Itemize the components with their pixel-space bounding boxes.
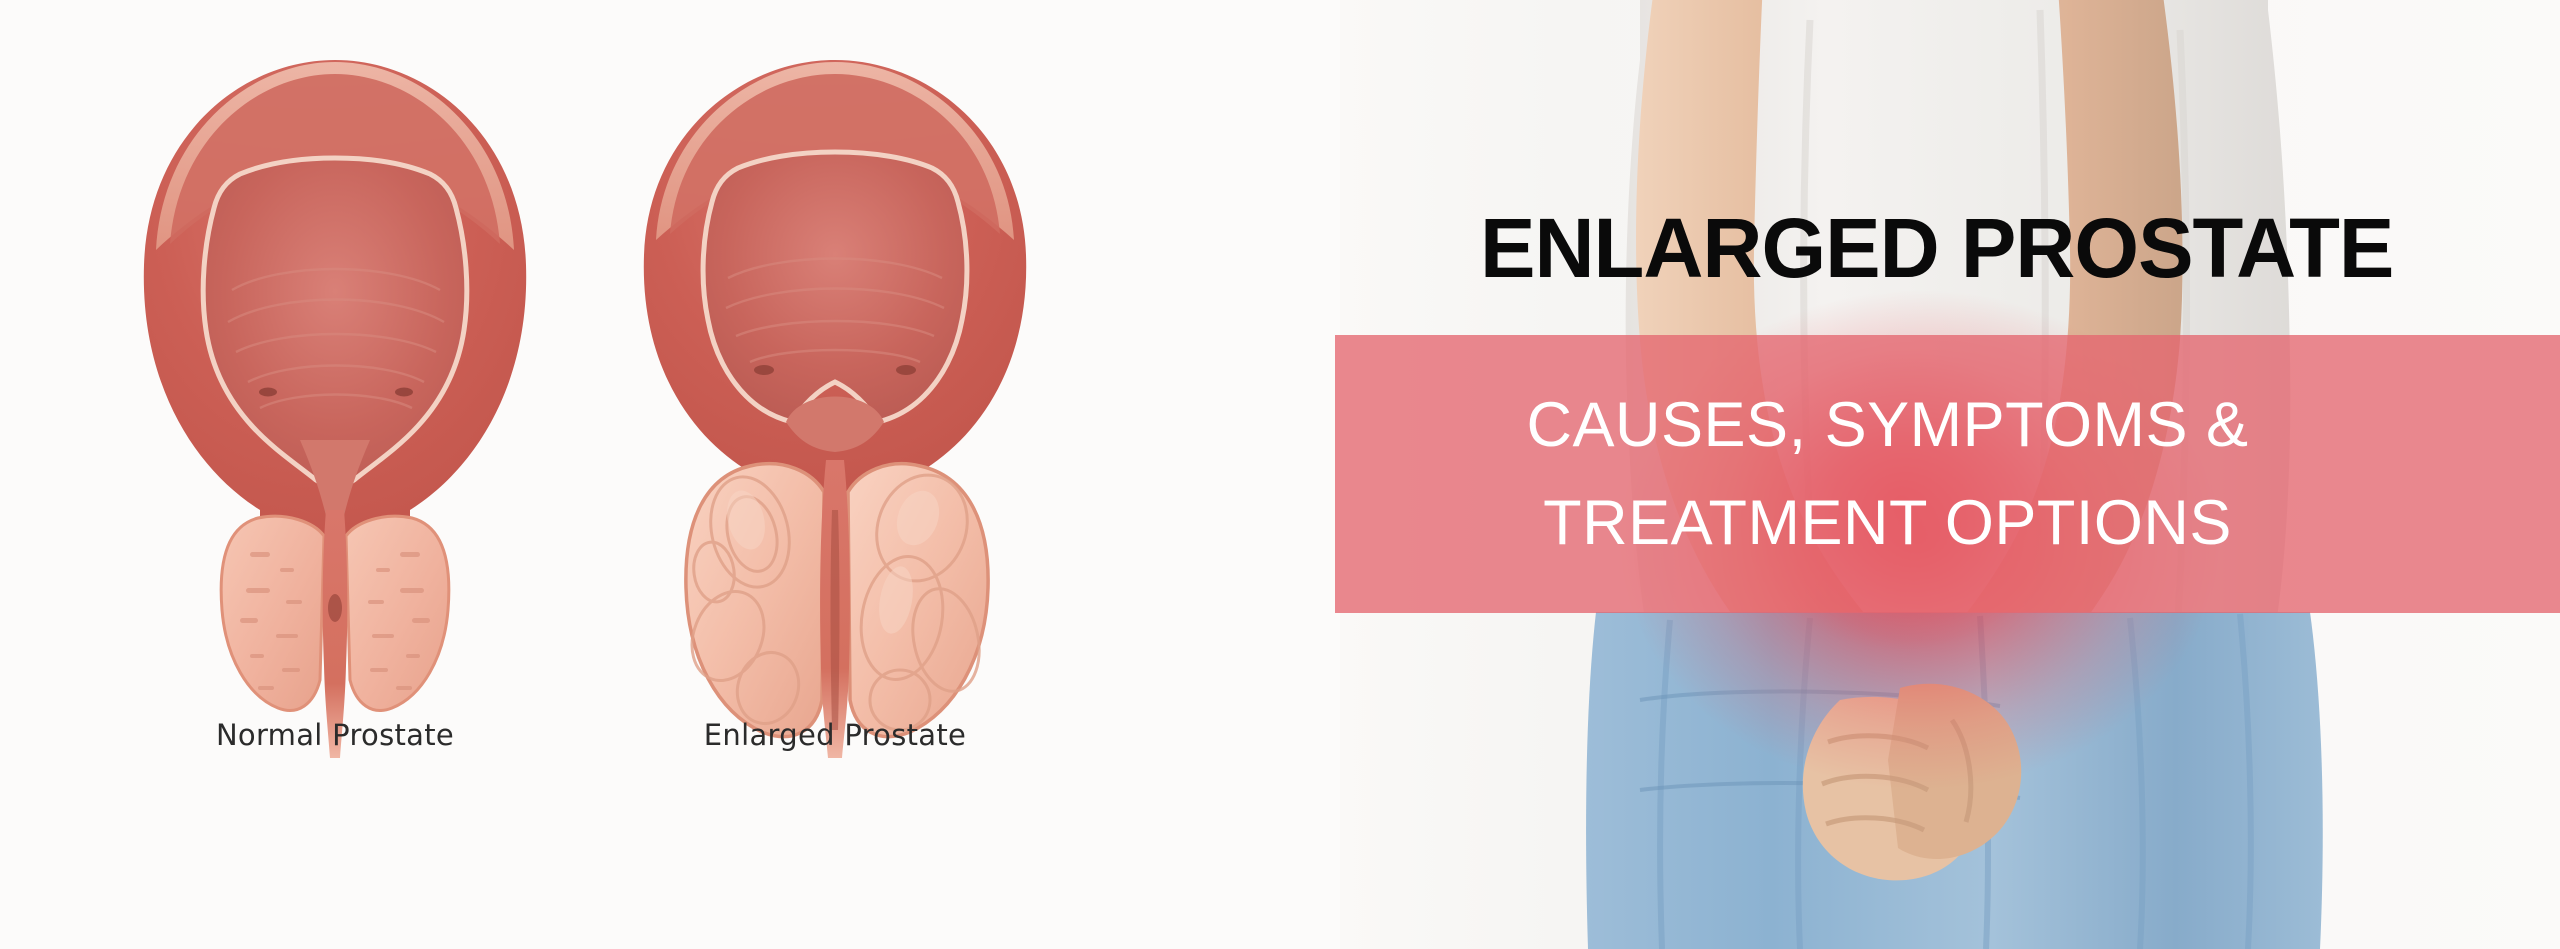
enlarged-prostate-diagram [600, 40, 1070, 760]
figure-normal-prostate: Normal Prostate [100, 40, 570, 830]
subtitle-line-1: CAUSES, SYMPTOMS & [1527, 376, 2249, 474]
prostate-comparison-illustration: Normal Prostate [0, 0, 1340, 949]
subtitle-line-2: TREATMENT OPTIONS [1543, 474, 2232, 572]
ureteric-orifice-right [896, 365, 916, 375]
ureteric-orifice-left [259, 388, 277, 397]
ureteric-orifice-left [754, 365, 774, 375]
prostate-lobe-left [221, 516, 324, 710]
figure-enlarged-prostate: Enlarged Prostate [600, 40, 1070, 830]
urethral-lumen [831, 510, 840, 730]
subtitle-text-group: CAUSES, SYMPTOMS & TREATMENT OPTIONS [1335, 335, 2560, 613]
figure-label-enlarged: Enlarged Prostate [600, 718, 1070, 752]
page-title: ENLARGED PROSTATE [1480, 202, 2539, 294]
prostate-lobe-right [346, 516, 449, 710]
bladder-lumen [703, 152, 967, 422]
enlarged-prostate-banner: Normal Prostate [0, 0, 2560, 949]
normal-prostate-diagram [100, 40, 570, 760]
ureteric-orifice-right [395, 388, 413, 397]
figure-label-normal: Normal Prostate [100, 718, 570, 752]
urethral-lumen [328, 594, 342, 622]
